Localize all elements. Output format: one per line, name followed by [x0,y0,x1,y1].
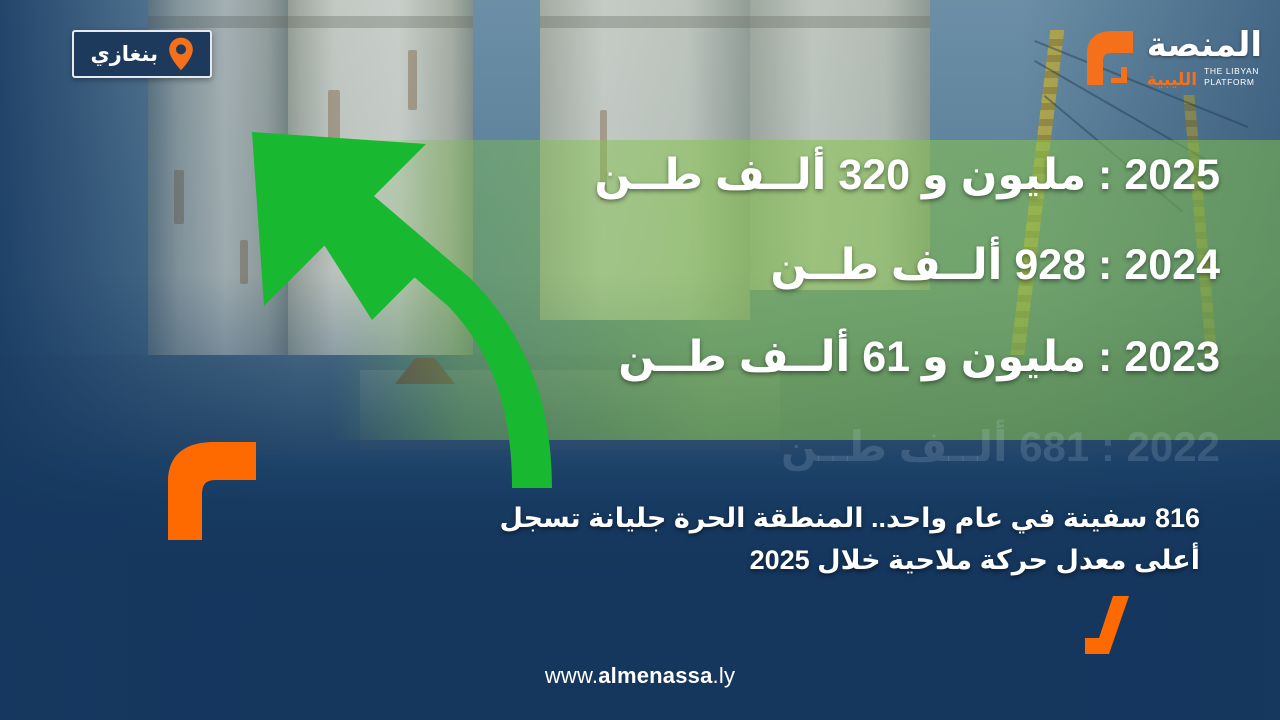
url-prefix: www. [545,663,598,688]
infographic-card: بنغازي المنصة THE LIBYAN PLATFORM الليبي… [0,0,1280,720]
brand-name-arabic: المنصة [1147,28,1262,62]
brand-name-english-line2: PLATFORM [1204,77,1254,87]
location-badge-label: بنغازي [90,42,158,67]
stat-row: 2024 : 928 ألــف طــن [460,240,1220,290]
headline-line-1: 816 سفينة في عام واحد.. المنطقة الحرة جل… [500,503,1200,533]
orange-hook-accent-icon [160,436,260,540]
headline-line-2: أعلى معدل حركة ملاحية خلال 2025 [370,540,1200,582]
map-pin-icon [168,37,194,71]
brand-name-english-line1: THE LIBYAN [1204,66,1259,76]
location-badge[interactable]: بنغازي [72,30,212,78]
headline: 816 سفينة في عام واحد.. المنطقة الحرة جل… [370,498,1200,582]
hook-mark-icon [1077,27,1141,89]
brand-name-english: THE LIBYAN PLATFORM [1204,66,1259,87]
orange-check-accent-icon [1085,596,1151,654]
url-suffix: .ly [713,663,736,688]
brand-name-arabic-secondary: الليبية [1147,71,1197,88]
brand-logo-text: المنصة THE LIBYAN PLATFORM الليبية [1147,28,1262,87]
stat-row-faded: 2022 : 681 ألــف طــن [460,422,1220,471]
statistics-list: 2025 : مليون و 320 ألــف طــن 2024 : 928… [460,150,1220,511]
brand-logo[interactable]: المنصة THE LIBYAN PLATFORM الليبية [1077,18,1262,98]
stat-row: 2025 : مليون و 320 ألــف طــن [460,150,1220,200]
brand-subtitle-group: THE LIBYAN PLATFORM الليبية [1147,66,1259,87]
url-main: almenassa [598,663,712,688]
stat-row: 2023 : مليون و 61 ألــف طــن [460,332,1220,382]
footer-website-url[interactable]: www.almenassa.ly [0,663,1280,689]
